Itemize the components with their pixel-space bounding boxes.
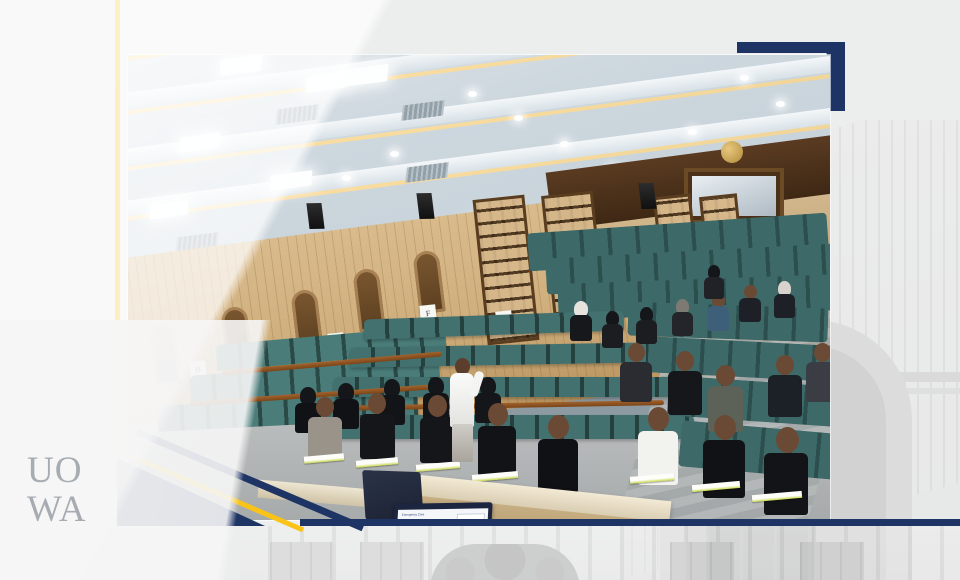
- logo-line-two: WA: [27, 491, 113, 528]
- logo-line-one: UO: [27, 452, 113, 489]
- presentation-monitor: Emergency Care: [391, 502, 492, 520]
- campus-building-watermark-lower: [240, 526, 960, 580]
- uowa-logo: UO WA: [27, 452, 113, 530]
- ceiling-downlight: [514, 115, 523, 121]
- navy-diagonal-accent: [135, 430, 365, 530]
- watermark-lower-window: [800, 542, 864, 580]
- wall-speaker: [416, 193, 434, 219]
- watermark-lower-window: [670, 542, 734, 580]
- slide-title: Emergency Care: [402, 512, 425, 516]
- presenter-legs: [452, 424, 473, 462]
- gold-frame-vertical: [115, 0, 120, 437]
- ceiling-downlight: [342, 175, 351, 181]
- banner-canvas: B C D E F G A: [0, 0, 960, 580]
- presenter-torso: [450, 373, 474, 427]
- wall-speaker: [306, 203, 324, 229]
- ceiling-downlight: [390, 151, 399, 157]
- watermark-lower-window: [360, 542, 424, 580]
- ceiling-downlight: [468, 91, 477, 97]
- ceiling-downlight: [688, 129, 697, 135]
- watermark-lower-window: [270, 542, 334, 580]
- ceiling-downlight: [740, 75, 749, 81]
- navy-horizontal-rule: [300, 519, 960, 526]
- ceiling-downlight: [776, 101, 785, 107]
- wall-speaker: [638, 183, 656, 209]
- institution-seal-icon: [721, 141, 743, 163]
- ceiling-downlight: [560, 141, 569, 147]
